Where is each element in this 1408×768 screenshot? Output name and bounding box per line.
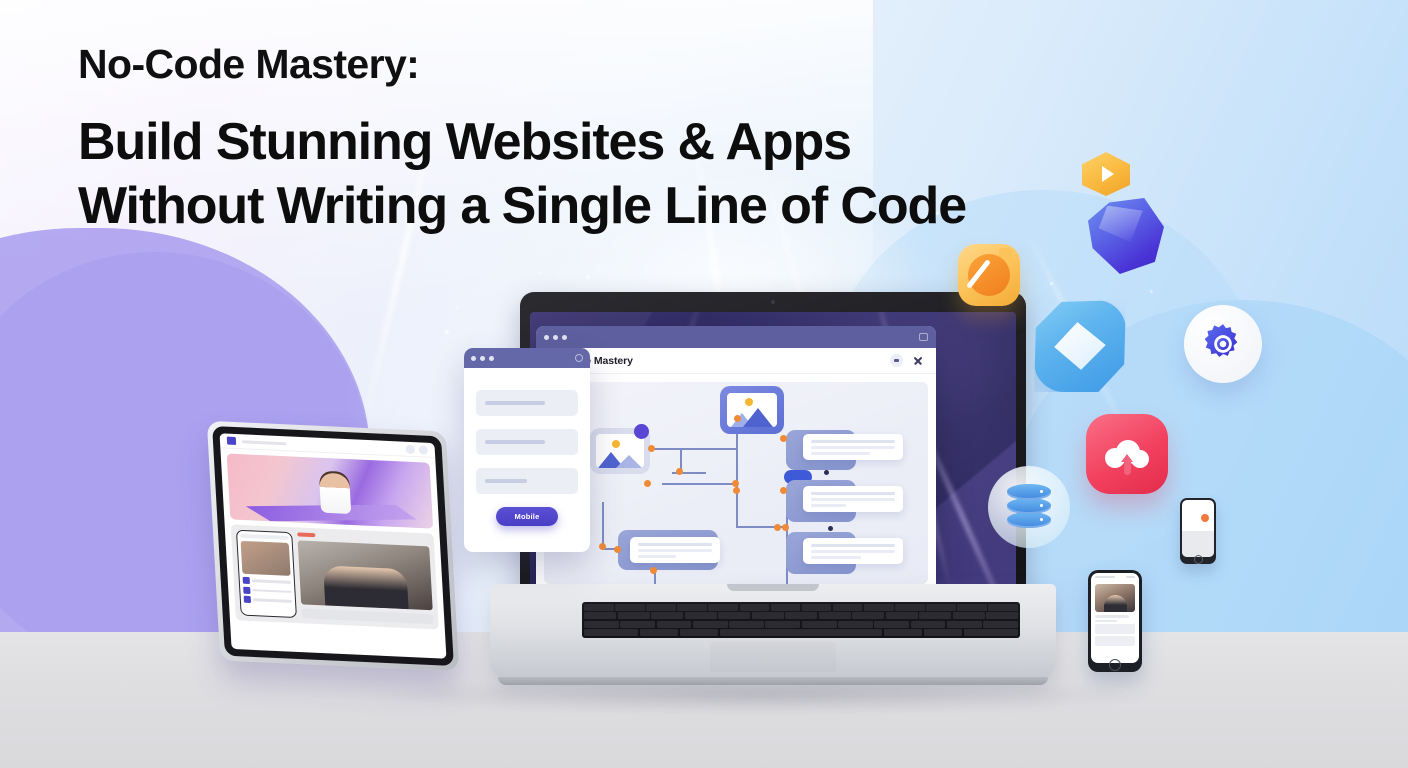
key[interactable] xyxy=(615,604,645,611)
key[interactable] xyxy=(651,612,683,619)
key[interactable] xyxy=(986,612,1018,619)
tablet-device xyxy=(207,421,459,671)
spacebar-key[interactable] xyxy=(720,629,882,636)
embedded-phone-mockup xyxy=(236,530,297,618)
image-thumbnail xyxy=(727,393,777,427)
close-icon[interactable] xyxy=(912,355,924,367)
connector-dot[interactable] xyxy=(780,487,787,494)
indicator-dot xyxy=(1040,504,1043,507)
nav-links xyxy=(1095,576,1115,578)
card-content xyxy=(803,434,903,460)
text-line xyxy=(811,446,895,449)
card-content xyxy=(803,538,903,564)
connector-line xyxy=(736,448,738,484)
key[interactable] xyxy=(988,604,1018,611)
database-stack xyxy=(1007,484,1051,530)
sparkle xyxy=(1150,290,1153,293)
mock-topbar xyxy=(240,534,288,540)
phone-hero-photo xyxy=(1095,584,1135,612)
app-header: No-Code Mastery xyxy=(536,348,936,374)
gear-icon[interactable] xyxy=(575,354,583,362)
flow-diagram xyxy=(544,382,928,584)
mock-text xyxy=(252,589,291,593)
hero-portrait xyxy=(319,472,351,513)
content-card xyxy=(1095,636,1135,646)
tablet-shell xyxy=(207,421,459,671)
tablet-bezel xyxy=(212,426,454,666)
key[interactable] xyxy=(708,604,738,611)
sparkle xyxy=(445,330,449,334)
mobile-icon xyxy=(1180,498,1216,564)
mock-photo xyxy=(241,541,291,576)
compass-icon xyxy=(958,244,1020,306)
text-line xyxy=(1095,615,1129,618)
nav-icon xyxy=(1126,576,1135,578)
sparkle xyxy=(1050,282,1053,285)
key[interactable] xyxy=(886,612,918,619)
connector-line xyxy=(654,448,738,450)
window-controls[interactable] xyxy=(544,335,567,340)
mock-list-item xyxy=(243,586,292,595)
site-nav-links xyxy=(242,440,286,445)
floating-window-titlebar[interactable] xyxy=(464,348,590,368)
key[interactable] xyxy=(785,612,817,619)
key[interactable] xyxy=(895,604,925,611)
field-placeholder xyxy=(485,401,545,405)
indicator-dot xyxy=(1040,490,1043,493)
text-line xyxy=(638,549,712,552)
window-titlebar[interactable] xyxy=(536,326,936,348)
key[interactable] xyxy=(919,612,951,619)
text-line xyxy=(638,555,676,558)
site-photo-block xyxy=(297,532,433,624)
connector-dot[interactable] xyxy=(733,487,740,494)
sparkle xyxy=(538,271,541,274)
text-card-bottom-left[interactable] xyxy=(618,530,718,570)
form-field-2[interactable] xyxy=(476,429,578,455)
form-field-1[interactable] xyxy=(476,390,578,416)
submit-button[interactable]: Mobile xyxy=(496,507,558,526)
floating-window-body: Mobile xyxy=(464,368,590,538)
headline-line-2: Without Writing a Single Line of Code xyxy=(78,178,966,234)
laptop-base xyxy=(490,584,1056,678)
field-placeholder xyxy=(485,440,545,444)
connector-dot[interactable] xyxy=(732,480,739,487)
key[interactable] xyxy=(802,604,832,611)
key[interactable] xyxy=(953,612,985,619)
accent-dot xyxy=(1201,514,1209,522)
search-icon xyxy=(405,444,415,453)
key[interactable] xyxy=(852,612,884,619)
sparkle xyxy=(456,306,459,309)
key[interactable] xyxy=(729,621,764,628)
webcam-icon xyxy=(771,300,775,304)
key[interactable] xyxy=(926,604,956,611)
sparkle xyxy=(586,275,590,279)
connector-dot[interactable] xyxy=(676,468,683,475)
key[interactable] xyxy=(677,604,707,611)
key[interactable] xyxy=(964,629,1018,636)
key-row xyxy=(584,604,1018,611)
key[interactable] xyxy=(864,604,894,611)
card-content xyxy=(803,486,903,512)
key[interactable] xyxy=(584,629,638,636)
connector-dot[interactable] xyxy=(782,524,789,531)
key[interactable] xyxy=(680,629,719,636)
mock-text xyxy=(253,598,292,602)
database-layer xyxy=(1007,498,1051,514)
floating-form-window[interactable]: Mobile xyxy=(464,348,590,552)
content-card xyxy=(1095,624,1135,634)
key-row xyxy=(584,621,1018,628)
mountain-shape xyxy=(616,455,642,468)
window-controls[interactable] xyxy=(471,356,494,361)
mock-list-item xyxy=(244,596,293,605)
connector-dot[interactable] xyxy=(774,524,781,531)
key-row xyxy=(584,629,1018,636)
text-line xyxy=(811,504,846,507)
mock-text xyxy=(252,579,291,583)
key-row xyxy=(584,612,1018,619)
cloud-shape xyxy=(1105,440,1149,468)
minimize-dot-icon[interactable] xyxy=(553,335,558,340)
site-logo xyxy=(227,437,236,445)
tablet-screen xyxy=(220,433,447,658)
home-button-icon xyxy=(1194,555,1203,564)
key[interactable] xyxy=(771,604,801,611)
text-line xyxy=(811,440,895,443)
key[interactable] xyxy=(657,621,692,628)
database-icon xyxy=(988,466,1070,548)
key[interactable] xyxy=(947,621,982,628)
sun-icon xyxy=(745,398,753,406)
indicator-dot xyxy=(1040,518,1043,521)
key[interactable] xyxy=(584,612,616,619)
key[interactable] xyxy=(685,612,717,619)
text-line xyxy=(1095,620,1117,623)
node-handle-dot[interactable] xyxy=(824,470,829,475)
text-line xyxy=(811,452,870,455)
trackpad[interactable] xyxy=(710,642,836,672)
connector-dot[interactable] xyxy=(734,415,741,422)
base-lip xyxy=(498,677,1048,685)
key[interactable] xyxy=(584,604,614,611)
mock-icon xyxy=(244,596,251,603)
key[interactable] xyxy=(833,604,863,611)
keyboard[interactable] xyxy=(582,602,1020,638)
upload-arrow-head xyxy=(1121,454,1133,462)
key[interactable] xyxy=(740,604,770,611)
connector-line xyxy=(662,483,738,485)
key[interactable] xyxy=(646,604,676,611)
connector-dot[interactable] xyxy=(648,445,655,452)
site-nav-icons xyxy=(405,444,428,454)
key[interactable] xyxy=(584,621,619,628)
form-field-3[interactable] xyxy=(476,468,578,494)
connector-dot[interactable] xyxy=(644,480,651,487)
key[interactable] xyxy=(752,612,784,619)
headline-main: Build Stunning Websites & Apps Without W… xyxy=(78,114,966,234)
database-layer xyxy=(1007,512,1051,528)
connector-dot[interactable] xyxy=(650,567,657,574)
key[interactable] xyxy=(911,621,946,628)
app-header-actions[interactable] xyxy=(890,354,924,367)
key[interactable] xyxy=(874,621,909,628)
base-notch xyxy=(727,584,819,591)
text-line xyxy=(811,550,895,553)
field-placeholder xyxy=(485,479,527,483)
headline-kicker: No-Code Mastery: xyxy=(78,42,966,88)
connector-dot[interactable] xyxy=(780,435,787,442)
portrait-photo xyxy=(298,540,433,610)
maximize-dot-icon[interactable] xyxy=(489,356,494,361)
key[interactable] xyxy=(983,621,1018,628)
key[interactable] xyxy=(618,612,650,619)
text-line xyxy=(811,492,895,495)
user-icon xyxy=(418,445,428,454)
close-dot-icon[interactable] xyxy=(544,335,549,340)
minimize-button[interactable] xyxy=(890,354,903,367)
maximize-dot-icon[interactable] xyxy=(562,335,567,340)
text-line xyxy=(638,543,712,546)
node-endpoint-dot[interactable] xyxy=(634,424,649,439)
mock-list-item xyxy=(243,577,292,586)
phone-notch xyxy=(1106,570,1124,573)
key[interactable] xyxy=(819,612,851,619)
key[interactable] xyxy=(718,612,750,619)
key[interactable] xyxy=(924,629,963,636)
hero-banner: No-Code Mastery: Build Stunning Websites… xyxy=(0,0,1408,768)
key[interactable] xyxy=(802,621,837,628)
content-strip xyxy=(301,608,433,624)
key[interactable] xyxy=(838,621,873,628)
card-content xyxy=(630,537,720,563)
key[interactable] xyxy=(957,604,987,611)
mock-icon xyxy=(243,577,250,584)
connector-dot[interactable] xyxy=(599,543,606,550)
text-line xyxy=(811,498,895,501)
home-button-icon[interactable] xyxy=(1109,659,1121,671)
text-line xyxy=(811,556,861,559)
key[interactable] xyxy=(693,621,728,628)
connector-dot[interactable] xyxy=(614,546,621,553)
image-node-top[interactable] xyxy=(720,386,784,434)
mock-icon xyxy=(243,586,250,593)
sun-icon xyxy=(612,440,620,448)
image-thumbnail xyxy=(596,434,644,468)
database-layer xyxy=(1007,484,1051,500)
builder-app-window: No-Code Mastery xyxy=(536,326,936,592)
gear-icon xyxy=(1184,305,1262,383)
phone-site-nav xyxy=(1091,573,1139,581)
phone-screen xyxy=(1091,573,1139,663)
key[interactable] xyxy=(765,621,800,628)
phone-device xyxy=(1088,570,1142,672)
cloud-upload-icon xyxy=(1086,414,1168,494)
site-hero-image xyxy=(227,454,434,529)
text-line xyxy=(811,544,895,547)
node-handle-dot[interactable] xyxy=(828,526,833,531)
flow-canvas[interactable] xyxy=(544,382,928,584)
mountain-shape xyxy=(743,408,773,427)
key[interactable] xyxy=(640,629,679,636)
key[interactable] xyxy=(620,621,655,628)
close-dot-icon[interactable] xyxy=(471,356,476,361)
content-area xyxy=(1182,531,1214,557)
minimize-dot-icon[interactable] xyxy=(480,356,485,361)
key[interactable] xyxy=(884,629,923,636)
window-restore-icon[interactable] xyxy=(919,333,928,341)
section-tag xyxy=(297,532,315,537)
headline-block: No-Code Mastery: Build Stunning Websites… xyxy=(78,42,966,234)
site-content-section xyxy=(231,524,439,629)
headline-line-1: Build Stunning Websites & Apps xyxy=(78,113,851,171)
phone-screen xyxy=(1182,500,1214,557)
